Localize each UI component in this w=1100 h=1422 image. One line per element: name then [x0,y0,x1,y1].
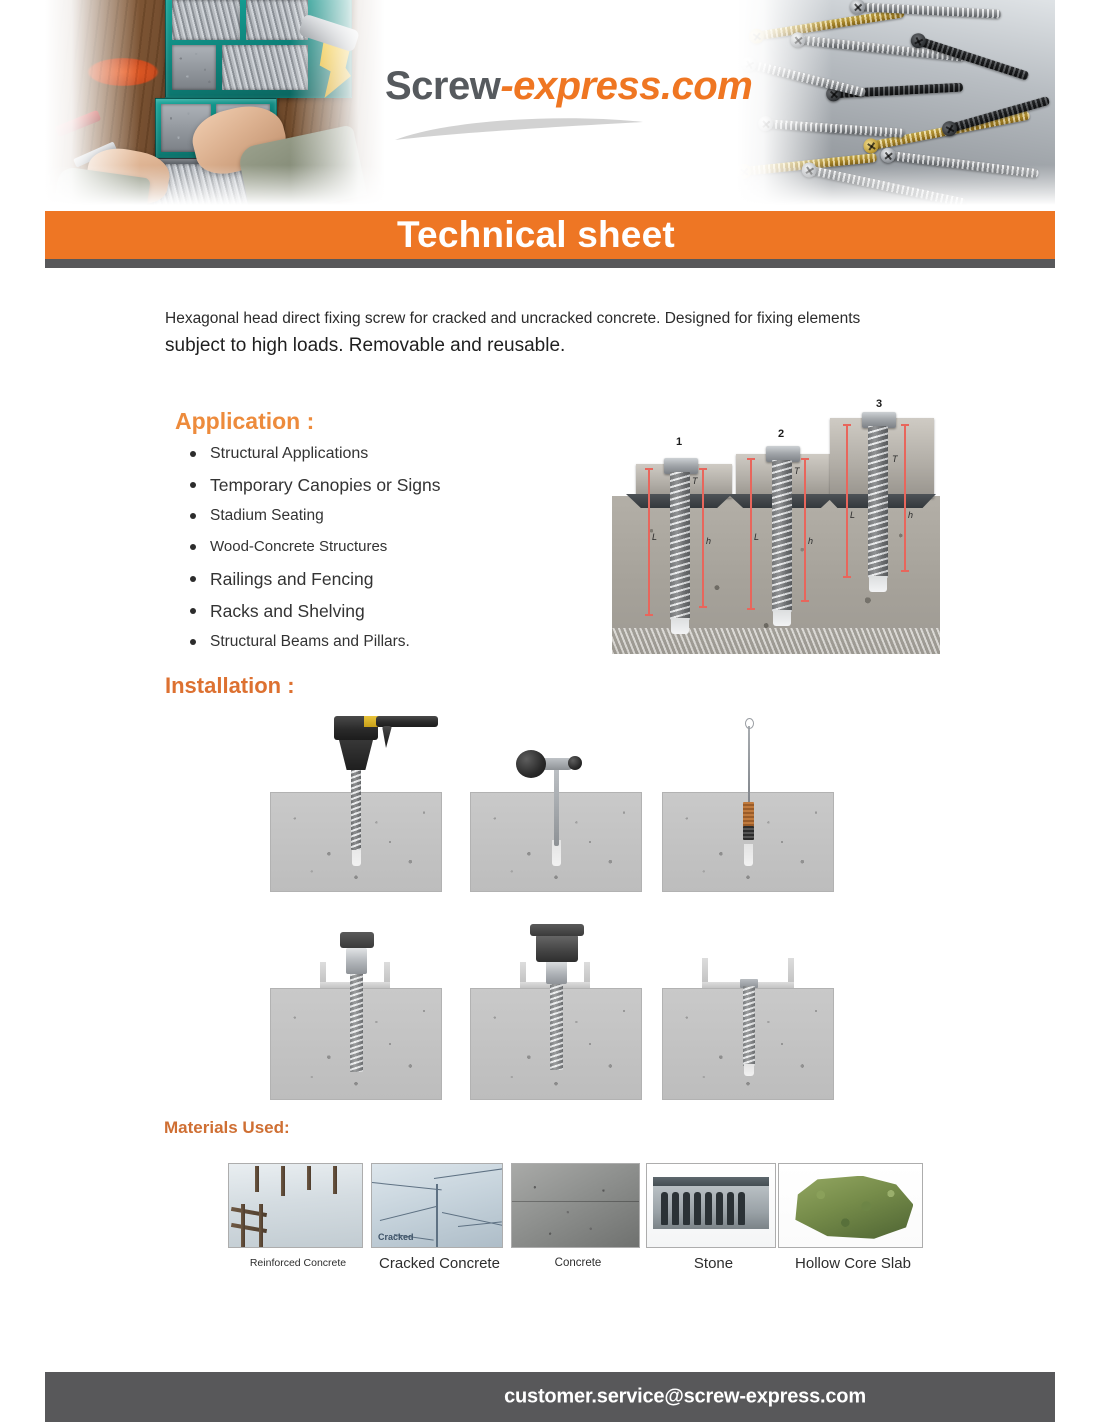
logo-text: Screw-express.com [385,66,745,106]
diagram-number-2: 2 [778,428,784,440]
application-item-label: Stadium Seating [210,507,324,524]
installation-steps [262,712,842,1102]
bullet-icon [190,513,196,519]
photo-fade-bottom [45,165,385,205]
material-thumbnail [778,1163,923,1248]
material-thumbnail [511,1163,640,1248]
bullet-icon [190,608,196,614]
bullet-icon [190,482,196,488]
screw-shank [743,986,755,1066]
bullet-icon [190,451,196,457]
reinforced-concrete-image [229,1164,362,1247]
application-list: Structural Applications Temporary Canopi… [186,440,566,659]
title-banner: Technical sheet [45,211,1055,259]
impact-wrench-icon [536,934,578,962]
description-line-1: Hexagonal head direct fixing screw for c… [165,308,925,330]
page-header: Screw-express.com [45,0,1055,205]
bullet-icon [190,576,196,582]
installation-step-drill-hole [270,712,446,892]
diagram-number-3: 3 [876,398,882,410]
drill-trigger-icon [382,726,392,748]
dimension-label-T-3: T [892,454,898,464]
application-item-label: Structural Beams and Pillars. [210,633,410,650]
concrete-image [512,1164,639,1247]
bullet-icon [190,639,196,645]
page-title: Technical sheet [397,214,675,256]
fixture-bracket-left [320,962,326,982]
product-description: Hexagonal head direct fixing screw for c… [165,308,925,360]
technical-cross-section-diagram: 1 L h T 2 L h T 3 L h T [612,392,940,654]
photo-fade-bottom [737,165,1055,205]
logo-swoosh-icon [393,116,693,142]
material-thumbnail [646,1163,776,1248]
material-label: Stone [646,1255,781,1272]
dimension-line-L-1 [648,468,650,616]
screw-tip-2 [773,610,791,626]
material-label: Reinforced Concrete [228,1257,368,1269]
screw-shank-3 [868,426,888,578]
diagram-number-1: 1 [676,436,682,448]
dimension-line-L-3 [846,424,848,578]
header-photo-screws [737,0,1055,205]
screw-shank-1 [670,472,690,620]
installation-step-brush-clean [662,712,838,892]
list-item: Structural Applications [186,440,566,467]
page-footer: customer.service@screw-express.com [45,1372,1055,1422]
application-heading: Application : [175,408,314,435]
list-item: Temporary Canopies or Signs [186,471,566,499]
dimension-label-T-1: T [692,476,698,486]
drill-bit-icon [351,768,361,850]
application-item-label: Wood-Concrete Structures [210,538,387,555]
site-logo[interactable]: Screw-express.com [385,66,745,161]
dimension-label-h-2: h [808,536,813,546]
installation-step-fastened [662,910,838,1100]
stone-image [779,1164,922,1247]
brush-wire-icon [748,726,750,804]
drilled-hole [744,844,753,866]
installation-step-insert-screw [270,910,446,1100]
dimension-line-h-1 [702,468,704,608]
materials-heading: Materials Used: [164,1118,290,1138]
fixture-bracket-right [788,958,794,982]
list-item: Structural Beams and Pillars. [186,629,566,655]
contact-email[interactable]: customer.service@screw-express.com [45,1386,1055,1409]
description-line-2: subject to high loads. Removable and reu… [165,332,925,360]
installation-step-drive-screw [470,910,646,1100]
pump-nozzle-icon [554,764,559,846]
dimension-line-h-3 [904,424,906,572]
installation-step-blow-out [470,712,646,892]
brush-bristles-icon [743,802,754,828]
logo-primary-text: Screw [385,64,500,108]
installation-heading: Installation : [165,673,295,699]
application-item-label: Structural Applications [210,445,368,462]
dimension-line-L-2 [750,458,752,610]
drill-chuck-icon [338,736,374,770]
material-label: Hollow Core Slab [778,1255,928,1272]
list-item: Wood-Concrete Structures [186,533,566,561]
screw-tip-3 [869,576,887,592]
fixture-bracket-right [384,962,390,982]
fixture-bracket-left [702,958,708,982]
list-item: Racks and Shelving [186,597,566,625]
logo-accent-text: -express.com [500,64,752,108]
application-item-label: Temporary Canopies or Signs [210,475,441,495]
material-thumbnail: Cracked [371,1163,503,1248]
concrete-base-hatching [612,628,940,654]
brush-loop-icon [745,718,754,729]
material-thumbnail [228,1163,363,1248]
dimension-label-L-3: L [850,510,855,520]
fixture-bracket-right [584,962,590,982]
list-item: Stadium Seating [186,503,566,529]
screw-shank [350,972,363,1072]
driver-head-icon [530,924,584,936]
screw-shank-2 [772,460,792,612]
screw-shank [550,982,563,1070]
application-item-label: Racks and Shelving [210,601,365,621]
socket-adapter-icon [346,948,367,974]
application-item-label: Railings and Fencing [210,569,373,589]
materials-list: Reinforced Concrete Cracked Cracked Conc… [228,1163,928,1293]
dimension-label-L-1: L [652,532,657,542]
cracked-concrete-image: Cracked [372,1164,502,1247]
pump-tip-icon [568,756,582,770]
fixture-bracket-left [520,962,526,982]
list-item: Railings and Fencing [186,565,566,593]
material-label: Cracked Concrete [371,1255,508,1272]
driver-head-icon [340,932,374,948]
bullet-icon [190,544,196,550]
dimension-line-h-2 [804,458,806,602]
hollow-core-slab-image [647,1164,775,1247]
dimension-label-h-3: h [908,510,913,520]
hole-remainder [744,1064,754,1076]
cracked-caption: Cracked [378,1232,414,1242]
socket-adapter-icon [546,960,567,984]
dimension-label-T-2: T [794,466,800,476]
drill-handle-icon [376,716,438,727]
dimension-label-h-1: h [706,536,711,546]
pump-bulb-icon [516,750,546,778]
dimension-label-L-2: L [754,532,759,542]
brush-tip-icon [743,826,754,840]
banner-underline [45,259,1055,268]
header-photo-workbench [45,0,385,205]
material-label: Concrete [511,1257,645,1269]
screw-tip-1 [671,618,689,634]
